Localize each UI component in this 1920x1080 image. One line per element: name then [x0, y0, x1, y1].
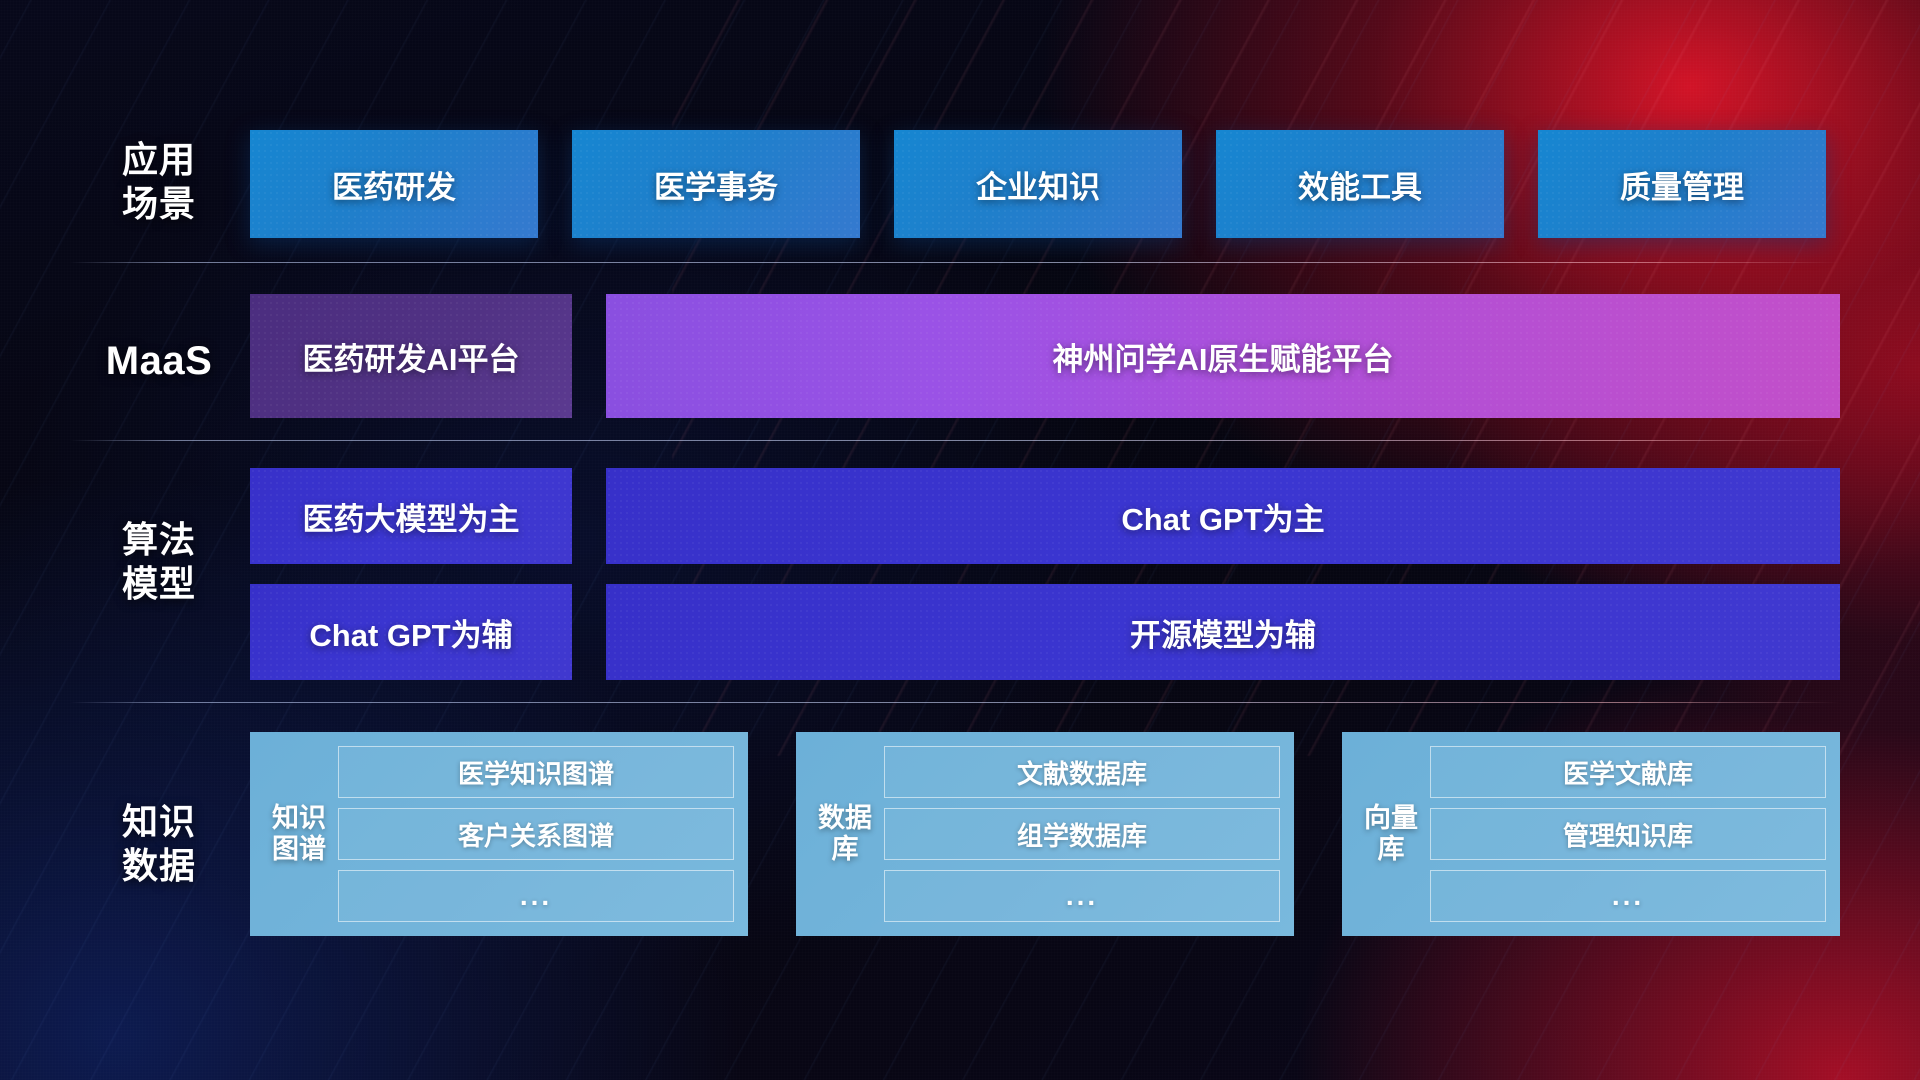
algo-box-opensource-secondary[interactable]: 开源模型为辅	[606, 584, 1840, 680]
knowledge-panel-vertical-label: 向量库	[1362, 803, 1420, 866]
algo-box-label: Chat GPT为辅	[309, 610, 512, 655]
layer-label-knowledge-line1: 知识	[84, 800, 234, 844]
app-box-label: 企业知识	[976, 162, 1100, 207]
algo-box-label: Chat GPT为主	[1121, 494, 1324, 539]
maas-box-shenzhou-platform[interactable]: 神州问学AI原生赋能平台	[606, 294, 1840, 418]
layer-label-application-line2: 场景	[84, 182, 234, 226]
app-box-quality-management[interactable]: 质量管理	[1538, 130, 1826, 238]
knowledge-panel-vertical-label: 数据库	[816, 803, 874, 866]
algo-box-label: 医药大模型为主	[303, 494, 520, 539]
knowledge-chip[interactable]: 医学文献库	[1430, 746, 1826, 798]
knowledge-row: 知识图谱 医学知识图谱 客户关系图谱 ... 数据库 文献数据库 组学数据库 .…	[250, 732, 1840, 936]
knowledge-chip-list: 医学知识图谱 客户关系图谱 ...	[338, 746, 734, 922]
layer-label-algorithm-line1: 算法	[84, 518, 234, 562]
knowledge-panel-knowledge-graph[interactable]: 知识图谱 医学知识图谱 客户关系图谱 ...	[250, 732, 748, 936]
knowledge-chip[interactable]: 客户关系图谱	[338, 808, 734, 860]
diagram-canvas: 应用 场景 医药研发 医学事务 企业知识 效能工具 质量管理	[0, 0, 1920, 1080]
knowledge-panel-vector-store[interactable]: 向量库 医学文献库 管理知识库 ...	[1342, 732, 1840, 936]
algo-box-medicine-llm-primary[interactable]: 医药大模型为主	[250, 468, 572, 564]
layer-label-application-line1: 应用	[84, 138, 234, 182]
layer-label-maas-text: MaaS	[84, 337, 234, 386]
algorithm-row-primary: 医药大模型为主 Chat GPT为主	[250, 468, 1840, 564]
app-box-medicine-rd[interactable]: 医药研发	[250, 130, 538, 238]
maas-box-medicine-ai-platform[interactable]: 医药研发AI平台	[250, 294, 572, 418]
layer-label-algorithm-line2: 模型	[84, 562, 234, 606]
app-box-label: 质量管理	[1620, 162, 1744, 207]
layer-label-knowledge-line2: 数据	[84, 844, 234, 888]
knowledge-chip-more[interactable]: ...	[338, 870, 734, 922]
layer-label-algorithm: 算法 模型	[84, 518, 234, 606]
algorithm-row-secondary: Chat GPT为辅 开源模型为辅	[250, 584, 1840, 680]
layer-label-maas: MaaS	[84, 337, 234, 386]
application-row: 医药研发 医学事务 企业知识 效能工具 质量管理	[250, 130, 1840, 238]
divider-algorithm-knowledge	[70, 702, 1840, 703]
divider-maas-algorithm	[70, 440, 1840, 441]
knowledge-chip[interactable]: 管理知识库	[1430, 808, 1826, 860]
app-box-label: 医学事务	[654, 162, 778, 207]
app-box-label: 效能工具	[1298, 162, 1422, 207]
knowledge-chip-list: 文献数据库 组学数据库 ...	[884, 746, 1280, 922]
knowledge-chip-list: 医学文献库 管理知识库 ...	[1430, 746, 1826, 922]
knowledge-chip[interactable]: 医学知识图谱	[338, 746, 734, 798]
diagram-content: 应用 场景 医药研发 医学事务 企业知识 效能工具 质量管理	[0, 0, 1920, 1080]
knowledge-chip-more[interactable]: ...	[1430, 870, 1826, 922]
app-box-efficiency-tools[interactable]: 效能工具	[1216, 130, 1504, 238]
algo-box-label: 开源模型为辅	[1130, 610, 1316, 655]
app-box-medical-affairs[interactable]: 医学事务	[572, 130, 860, 238]
algo-box-chatgpt-primary[interactable]: Chat GPT为主	[606, 468, 1840, 564]
layer-label-application: 应用 场景	[84, 138, 234, 226]
algo-box-chatgpt-secondary[interactable]: Chat GPT为辅	[250, 584, 572, 680]
app-box-label: 医药研发	[332, 162, 456, 207]
knowledge-panel-vertical-label: 知识图谱	[270, 803, 328, 866]
knowledge-chip-more[interactable]: ...	[884, 870, 1280, 922]
layer-label-knowledge: 知识 数据	[84, 800, 234, 888]
knowledge-chip[interactable]: 组学数据库	[884, 808, 1280, 860]
maas-box-label: 医药研发AI平台	[303, 334, 520, 379]
app-box-enterprise-knowledge[interactable]: 企业知识	[894, 130, 1182, 238]
maas-row: 医药研发AI平台 神州问学AI原生赋能平台	[250, 294, 1840, 418]
maas-box-label: 神州问学AI原生赋能平台	[1053, 334, 1394, 379]
knowledge-panel-database[interactable]: 数据库 文献数据库 组学数据库 ...	[796, 732, 1294, 936]
divider-application-maas	[70, 262, 1840, 263]
knowledge-chip[interactable]: 文献数据库	[884, 746, 1280, 798]
